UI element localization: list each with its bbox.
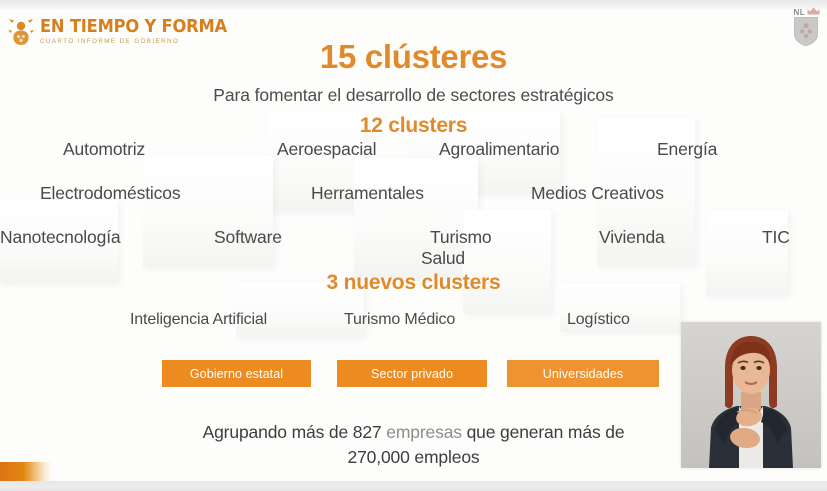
crown-icon [807, 7, 820, 15]
cluster-label-software: Software [214, 227, 282, 248]
background-panel [143, 156, 273, 268]
section-heading-3-nuevos: 3 nuevos clusters [0, 271, 827, 295]
sign-language-interpreter-video[interactable] [681, 322, 821, 468]
interpreter-figure [681, 322, 821, 468]
cluster-label-turismo: Turismo [430, 227, 492, 248]
cluster-label-energia: Energía [657, 139, 717, 160]
page-title: 15 clústeres [0, 38, 827, 76]
footer-part-1: Agrupando más de 827 [203, 422, 387, 442]
top-chrome-bar [0, 0, 827, 9]
cluster-label-inteligencia-artificial: Inteligencia Artificial [130, 311, 267, 329]
cluster-label-aeroespacial: Aeroespacial [277, 139, 376, 160]
cluster-label-tic: TIC [762, 227, 790, 248]
background-panel [463, 210, 551, 314]
pill-sector-privado[interactable]: Sector privado [337, 360, 487, 387]
cluster-label-vivienda: Vivienda [599, 227, 665, 248]
footer-dim-word: empresas [386, 422, 462, 442]
logo-title: EN TIEMPO Y FORMA [40, 19, 227, 37]
cluster-label-electrodomesticos: Electrodomésticos [40, 183, 180, 204]
page-subtitle: Para fomentar el desarrollo de sectores … [0, 85, 827, 106]
cluster-label-nanotecnologia: Nanotecnología [0, 227, 121, 248]
cluster-label-logistico: Logístico [567, 311, 630, 329]
cluster-label-salud: Salud [421, 248, 465, 269]
cluster-label-herramentales: Herramentales [311, 183, 424, 204]
pill-universidades[interactable]: Universidades [507, 360, 659, 387]
footer-part-2: que generan más de [462, 422, 625, 442]
footer-line-2: 270,000 empleos [347, 447, 479, 467]
pill-gobierno-estatal[interactable]: Gobierno estatal [162, 360, 311, 387]
bottom-chrome-bar [0, 481, 827, 491]
bottom-orange-accent [0, 462, 52, 481]
cluster-label-automotriz: Automotriz [63, 139, 145, 160]
cluster-label-agroalimentario: Agroalimentario [439, 139, 559, 160]
presentation-slide: EN TIEMPO Y FORMA CUARTO INFORME DE GOBI… [0, 0, 827, 491]
cluster-label-medios-creativos: Medios Creativos [531, 183, 664, 204]
section-heading-12-clusters: 12 clusters [0, 114, 827, 138]
cluster-label-turismo-medico: Turismo Médico [344, 311, 455, 329]
